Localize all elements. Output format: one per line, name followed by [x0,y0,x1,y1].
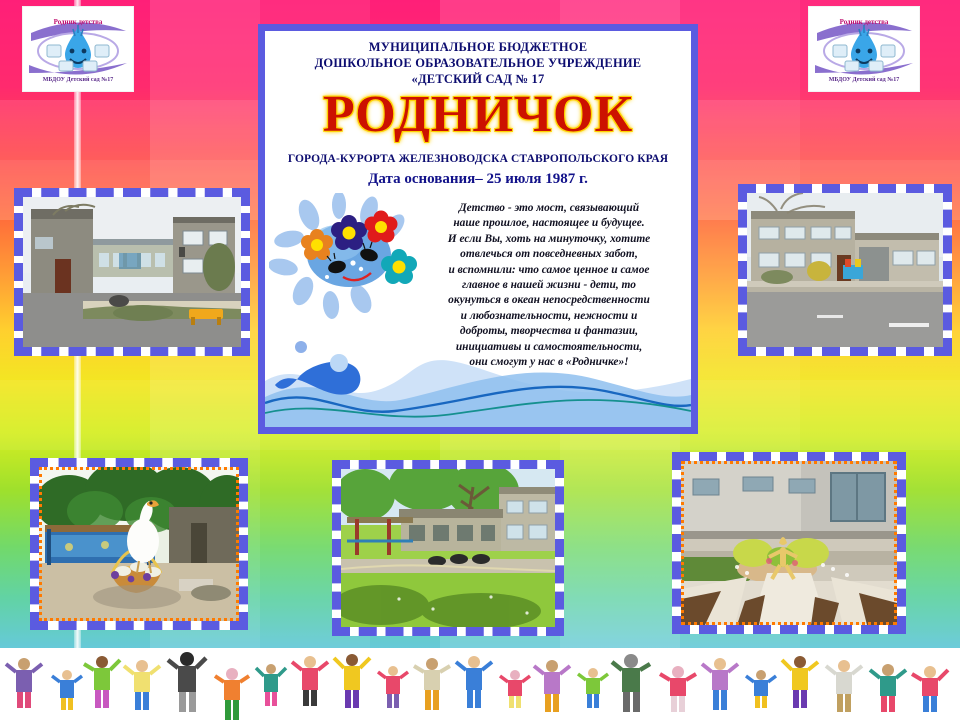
poem-line: главное в нашей жизни - дети, то [415,278,683,293]
poem-line: и вспомнили: что самое ценное и самое [415,263,683,278]
photo-top-right [738,184,952,356]
photo-image [341,469,555,627]
kindergarten-name-title: РОДНИЧОК [265,89,691,141]
svg-text:Родник детства: Родник детства [840,18,889,26]
photo-bottom-right [672,452,906,634]
header-line-2: ДОШКОЛЬНОЕ ОБРАЗОВАТЕЛЬНОЕ УЧРЕЖДЕНИЕ [265,55,691,71]
photo-image [747,193,943,347]
poem-line: Детство - это мост, связывающий [415,201,683,216]
header-line-1: МУНИЦИПАЛЬНОЕ БЮДЖЕТНОЕ [265,39,691,55]
poem-line: И если Вы, хоть на минуточку, хотите [415,232,683,247]
svg-text:МБДОУ Детский сад №17: МБДОУ Детский сад №17 [43,76,113,83]
photo-bottom-left [30,458,248,630]
water-splash-flowers-decoration [269,193,433,343]
photo-bottom-middle [332,460,564,636]
photo-inner-dotted-border [39,467,239,621]
svg-text:Родник детства: Родник детства [54,18,103,26]
logo-left: Родник детства МБДОУ Детский сад №17 [22,6,134,92]
poem-line: они смогут у нас в «Родничке»! [415,355,683,370]
poem-line: и любознательности, нежности и [415,309,683,324]
photo-inner-dotted-border [681,461,897,625]
poem-line: наше прошлое, настоящее и будущее. [415,216,683,231]
region-subtitle: ГОРОДА-КУРОРТА ЖЕЛЕЗНОВОДСКА СТАВРОПОЛЬС… [265,153,691,165]
children-border-decoration [0,648,960,720]
panel-header: МУНИЦИПАЛЬНОЕ БЮДЖЕТНОЕ ДОШКОЛЬНОЕ ОБРАЗ… [265,39,691,87]
photo-image [23,197,241,347]
photo-top-left [14,188,250,356]
header-line-3: «ДЕТСКИЙ САД № 17 [265,71,691,87]
poem-text: Детство - это мост, связывающий наше про… [415,201,683,370]
poem-line: окунуться в океан непосредственности [415,293,683,308]
svg-text:МБДОУ Детский сад №17: МБДОУ Детский сад №17 [829,76,899,83]
poster-canvas: Родник детства МБДОУ Детский сад №17 Род… [0,0,960,720]
founded-date: Дата основания– 25 июля 1987 г. [265,171,691,188]
poem-line: доброты, творчества и фантазии, [415,324,683,339]
logo-right: Родник детства МБДОУ Детский сад №17 [808,6,920,92]
poem-line: отвлечься от повседневных забот, [415,247,683,262]
poem-line: инициативы и самостоятельности, [415,340,683,355]
info-panel: МУНИЦИПАЛЬНОЕ БЮДЖЕТНОЕ ДОШКОЛЬНОЕ ОБРАЗ… [258,24,698,434]
